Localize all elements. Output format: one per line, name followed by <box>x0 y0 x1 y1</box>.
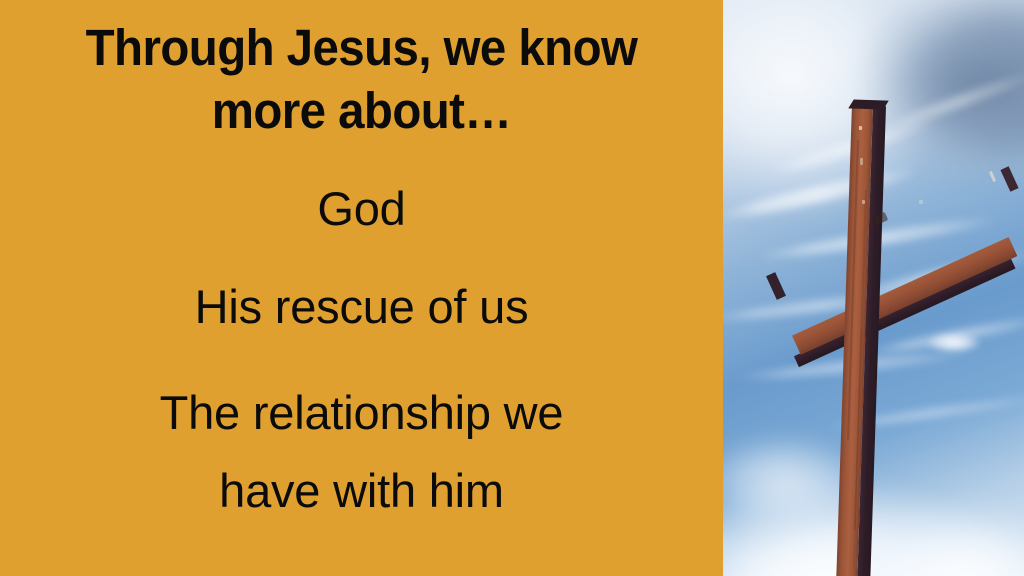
body-line-rescue: His rescue of us <box>0 268 723 346</box>
body-line-relationship: The relationship we have with him <box>0 374 723 530</box>
wooden-cross <box>723 0 1024 576</box>
crossbar-lit-face <box>792 237 1017 355</box>
crossbar-left-end <box>766 272 786 300</box>
nail-mark <box>989 171 996 182</box>
slide: Through Jesus, we know more about… God H… <box>0 0 1024 576</box>
post-top-cap <box>848 100 888 110</box>
cross-photo <box>723 0 1024 576</box>
body-line-god: God <box>0 170 723 248</box>
slide-title: Through Jesus, we know more about… <box>25 16 697 142</box>
nail-mark <box>862 200 865 204</box>
text-panel: Through Jesus, we know more about… God H… <box>0 0 723 576</box>
crossbar-shadow-face <box>794 258 1016 368</box>
crossbar-right-end <box>1000 166 1018 192</box>
nail-mark <box>860 158 863 165</box>
nail-mark <box>859 126 862 130</box>
nail-mark <box>919 200 923 204</box>
